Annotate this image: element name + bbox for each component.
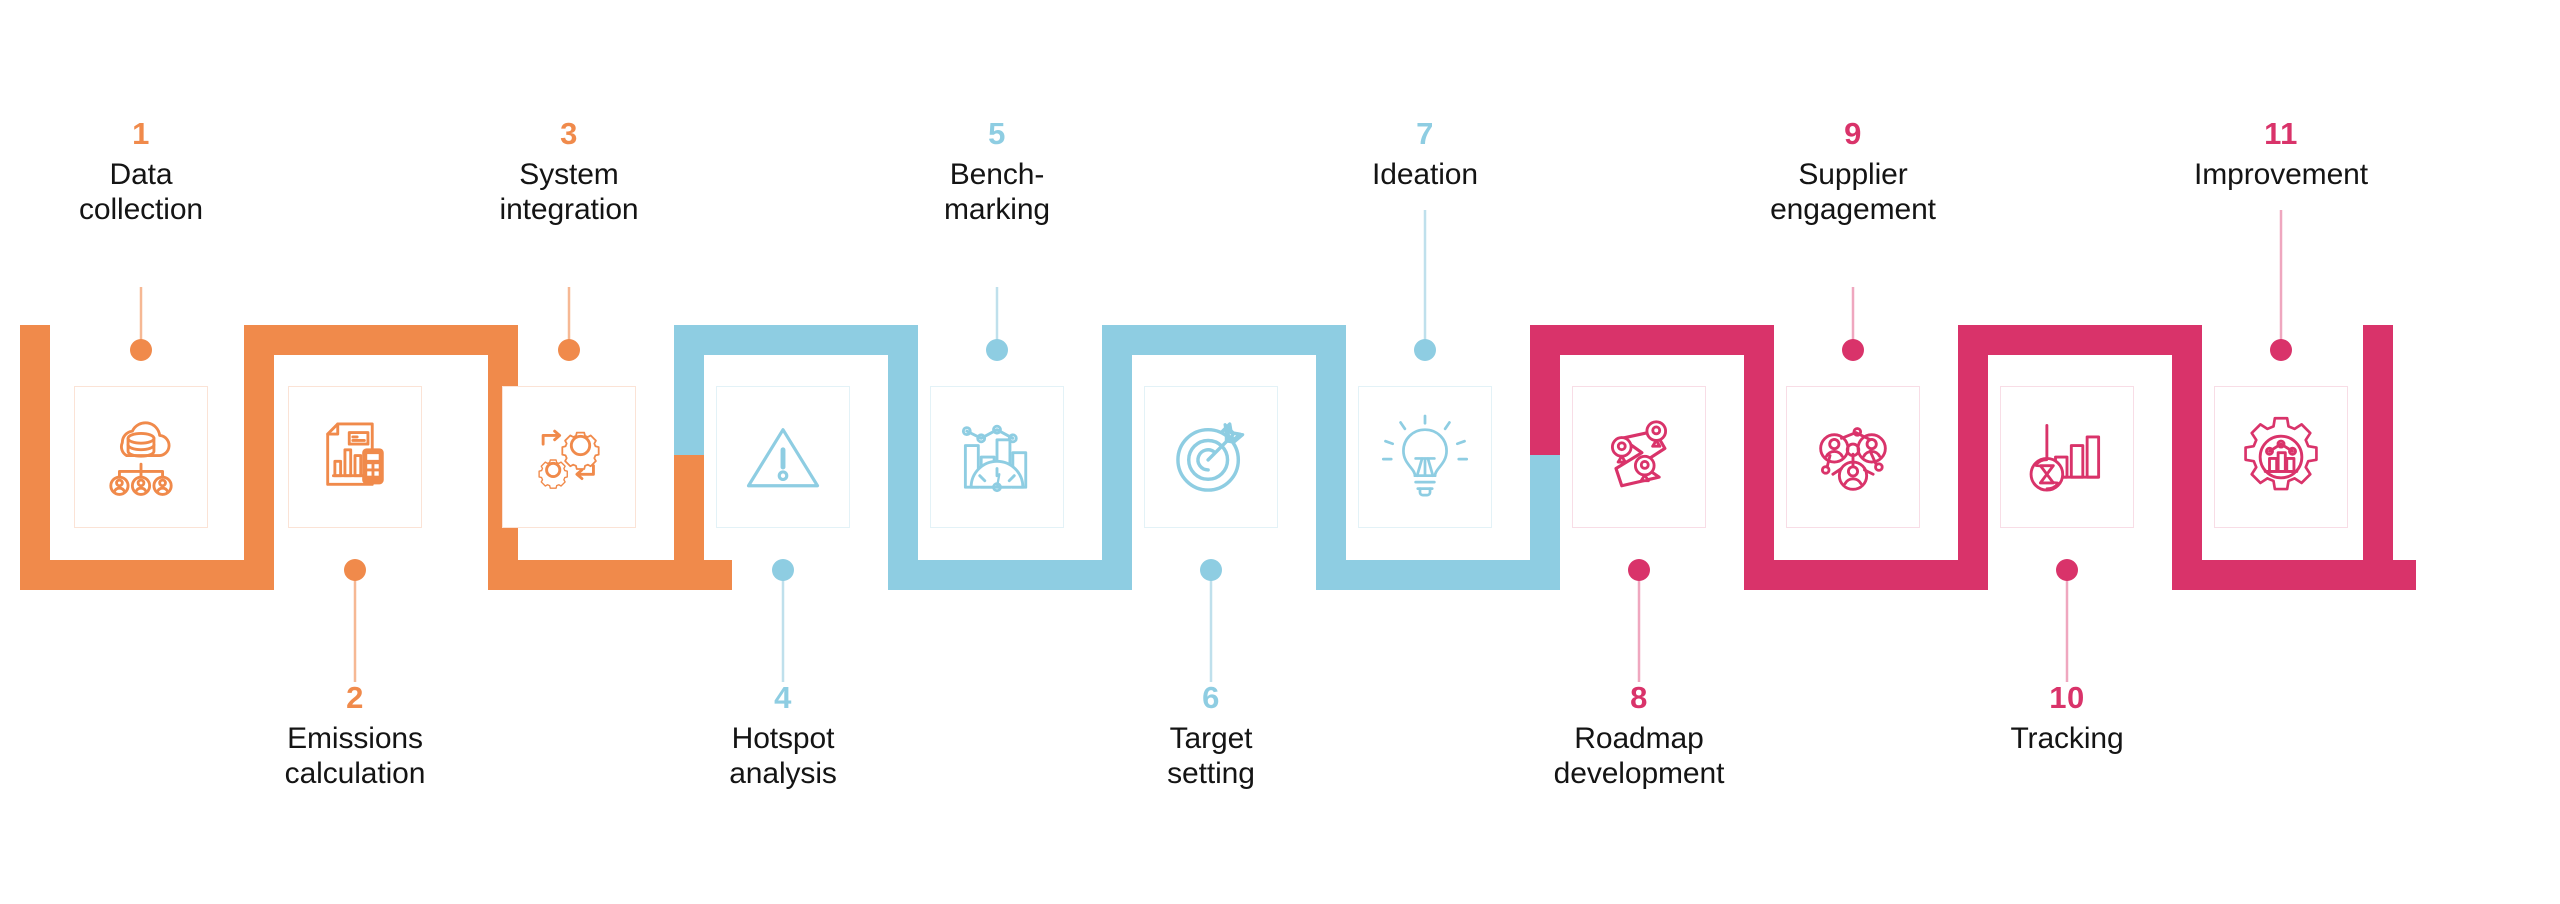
step-caption: System integration <box>419 158 719 228</box>
step-label-7: 7 Ideation <box>1275 118 1575 193</box>
step-caption: Roadmap development <box>1489 722 1789 792</box>
icon-box-10[interactable] <box>2000 386 2134 528</box>
icon-box-4[interactable] <box>716 386 850 528</box>
step-number: 11 <box>2131 118 2431 149</box>
connector-3 <box>558 287 580 361</box>
connector-11 <box>2270 210 2292 361</box>
step-label-9: 9 Supplier engagement <box>1703 118 2003 228</box>
icon-box-11[interactable] <box>2214 386 2348 528</box>
step-label-3: 3 System integration <box>419 118 719 228</box>
icon-box-6[interactable] <box>1144 386 1278 528</box>
bar-chart-gauge-icon <box>951 411 1043 503</box>
step-label-8: 8 Roadmap development <box>1489 682 1789 792</box>
step-number: 7 <box>1275 118 1575 149</box>
step-number: 9 <box>1703 118 2003 149</box>
icon-box-5[interactable] <box>930 386 1064 528</box>
step-label-4: 4 Hotspot analysis <box>633 682 933 792</box>
infographic-canvas: 1 Data collection 2 Emissions calculatio… <box>0 0 2560 904</box>
step-caption: Target setting <box>1061 722 1361 792</box>
gears-sync-icon <box>523 411 615 503</box>
step-caption: Tracking <box>1917 722 2217 757</box>
connector-1 <box>130 287 152 361</box>
step-caption: Bench- marking <box>847 158 1147 228</box>
step-number: 4 <box>633 682 933 713</box>
connector-5 <box>986 287 1008 361</box>
connector-4 <box>772 559 794 682</box>
icon-box-1[interactable] <box>74 386 208 528</box>
warning-triangle-icon <box>737 411 829 503</box>
step-number: 1 <box>0 118 291 149</box>
step-label-10: 10 Tracking <box>1917 682 2217 757</box>
step-label-6: 6 Target setting <box>1061 682 1361 792</box>
icon-box-3[interactable] <box>502 386 636 528</box>
step-number: 10 <box>1917 682 2217 713</box>
step-number: 2 <box>205 682 505 713</box>
people-network-icon <box>1807 411 1899 503</box>
icon-box-9[interactable] <box>1786 386 1920 528</box>
lightbulb-icon <box>1379 411 1471 503</box>
step-caption: Ideation <box>1275 158 1575 193</box>
icon-box-2[interactable] <box>288 386 422 528</box>
document-chart-calculator-icon <box>309 411 401 503</box>
cloud-database-users-icon <box>95 411 187 503</box>
target-arrow-icon <box>1165 411 1257 503</box>
step-label-2: 2 Emissions calculation <box>205 682 505 792</box>
step-number: 5 <box>847 118 1147 149</box>
step-caption: Emissions calculation <box>205 722 505 792</box>
step-caption: Data collection <box>0 158 291 228</box>
connector-6 <box>1200 559 1222 682</box>
connector-2 <box>344 559 366 682</box>
gear-chart-icon <box>2235 411 2327 503</box>
step-number: 6 <box>1061 682 1361 713</box>
roadmap-pins-icon <box>1593 411 1685 503</box>
step-caption: Hotspot analysis <box>633 722 933 792</box>
step-label-1: 1 Data collection <box>0 118 291 228</box>
connector-8 <box>1628 559 1650 682</box>
step-caption: Supplier engagement <box>1703 158 2003 228</box>
bar-chart-hourglass-icon <box>2021 411 2113 503</box>
connector-9 <box>1842 287 1864 361</box>
icon-box-8[interactable] <box>1572 386 1706 528</box>
step-label-11: 11 Improvement <box>2131 118 2431 193</box>
step-number: 3 <box>419 118 719 149</box>
step-caption: Improvement <box>2131 158 2431 193</box>
step-number: 8 <box>1489 682 1789 713</box>
connector-10 <box>2056 559 2078 682</box>
connector-7 <box>1414 210 1436 361</box>
icon-box-7[interactable] <box>1358 386 1492 528</box>
step-label-5: 5 Bench- marking <box>847 118 1147 228</box>
